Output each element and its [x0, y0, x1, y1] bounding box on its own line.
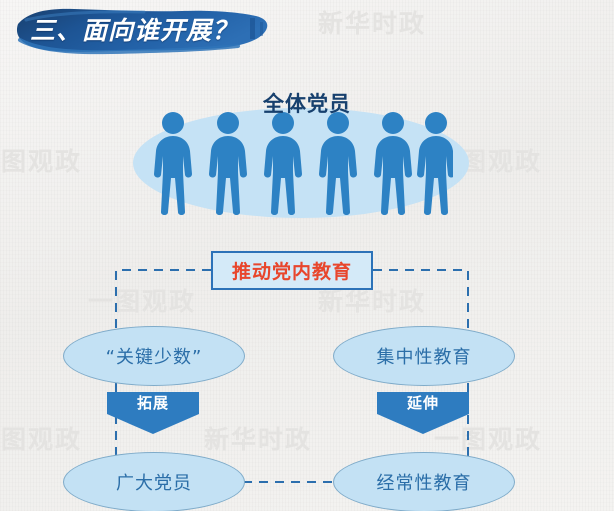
- down-arrow-expand: 拓展: [107, 388, 199, 434]
- party-members-figures: [153, 112, 453, 217]
- node-concentrated-education[interactable]: 集中性教育: [333, 326, 515, 386]
- node-broad-party-members[interactable]: 广大党员: [63, 452, 245, 511]
- page-title: 三、面向谁开展？: [30, 14, 250, 48]
- node-key-minority[interactable]: “关键少数”: [63, 326, 245, 386]
- node-regular-education[interactable]: 经常性教育: [333, 452, 515, 511]
- hero-section: 全体党员: [0, 70, 614, 230]
- slide-canvas: 一图观政 新华时政 一图观政 新华时政 一图观政 一图观政 新华时政 一图观政 …: [0, 0, 614, 511]
- hero-label: 全体党员: [0, 88, 614, 118]
- center-node-promote-education[interactable]: 推动党内教育: [211, 251, 373, 290]
- watermark-text: 新华时政: [318, 4, 426, 40]
- flow-diagram: 推动党内教育 “关键少数” 集中性教育 广大党员 经常性教育 拓展 延伸: [0, 240, 614, 511]
- down-arrow-extend: 延伸: [377, 388, 469, 434]
- arrow-label-extend: 延伸: [377, 388, 469, 418]
- arrow-label-expand: 拓展: [107, 388, 199, 418]
